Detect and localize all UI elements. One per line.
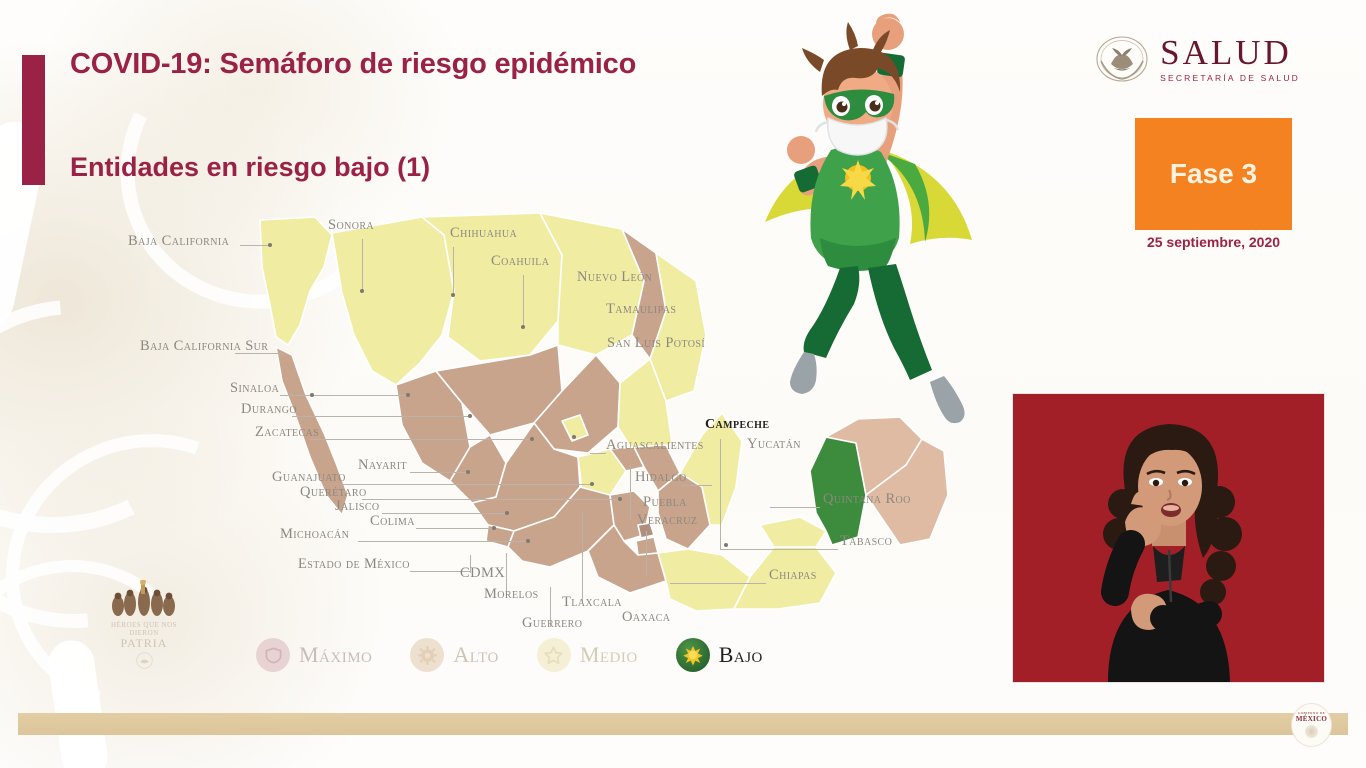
- page-title: COVID-19: Semáforo de riesgo epidémico: [70, 48, 636, 81]
- map-label-san-luis-potosi: San Luis Potosí: [607, 335, 705, 352]
- leader-line: [720, 549, 838, 550]
- leader-line: [416, 528, 494, 529]
- map-dot: [572, 435, 576, 439]
- leader-line: [340, 484, 592, 485]
- map-label-zacatecas: Zacatecas: [255, 424, 319, 441]
- map-dot: [724, 543, 728, 547]
- map-label-oaxaca: Oaxaca: [622, 609, 670, 626]
- map-label-quintana-roo: Quintana Roo: [823, 491, 911, 508]
- salud-wordmark: SALUD: [1160, 35, 1300, 70]
- map-label-tabasco: Tabasco: [840, 533, 892, 550]
- leader-line: [523, 275, 524, 327]
- map-label-puebla: Puebla: [643, 494, 687, 511]
- map-label-chihuahua: Chihuahua: [450, 225, 517, 242]
- leader-line: [646, 531, 647, 575]
- map-dot: [451, 293, 455, 297]
- leader-line: [280, 395, 408, 396]
- state-sonora: [332, 217, 454, 385]
- legend-item-medio[interactable]: Medio: [537, 638, 638, 672]
- title-accent-bar: [22, 55, 45, 185]
- leader-line: [292, 416, 470, 417]
- leader-line: [358, 541, 528, 542]
- map-label-baja-california-sur: Baja California Sur: [140, 338, 268, 355]
- map-label-estado-de-mexico: Estado de México: [298, 556, 410, 573]
- map-dot: [310, 393, 314, 397]
- map-label-hidalgo: Hidalgo: [635, 469, 687, 486]
- map-dot: [526, 539, 530, 543]
- risk-legend: Máximo: [256, 638, 763, 672]
- leader-line: [310, 439, 532, 440]
- phase-badge: Fase 3: [1135, 118, 1292, 230]
- sunburst-icon: [676, 638, 710, 672]
- gear-icon: [410, 638, 444, 672]
- map-label-nayarit: Nayarit: [358, 457, 407, 474]
- map-dot: [406, 393, 410, 397]
- legend-label-medio: Medio: [580, 642, 638, 668]
- seal-line-2: MÉXICO: [1296, 716, 1327, 723]
- sign-language-interpreter-video[interactable]: [1012, 393, 1325, 683]
- gobierno-de-mexico-seal: GOBIERNO DE MÉXICO: [1291, 703, 1332, 747]
- phase-label: Fase 3: [1170, 158, 1257, 190]
- page-subtitle: Entidades en riesgo bajo (1): [70, 152, 430, 183]
- state-tabasco: [760, 517, 826, 547]
- map-dot: [618, 497, 622, 501]
- presentation-slide: COVID-19: Semáforo de riesgo epidémico E…: [0, 0, 1366, 768]
- state-oaxaca: [658, 549, 750, 611]
- map-label-sinaloa: Sinaloa: [230, 380, 279, 397]
- leader-line: [770, 507, 820, 508]
- map-label-coahuila: Coahuila: [491, 253, 549, 270]
- map-label-michoacan: Michoacán: [280, 526, 349, 543]
- map-label-colima: Colima: [370, 513, 415, 530]
- star-icon: [537, 638, 571, 672]
- leader-line: [410, 472, 468, 473]
- eagle-seal-small-icon: [136, 652, 153, 669]
- legend-label-bajo: Bajo: [719, 642, 763, 668]
- map-label-tamaulipas: Tamaulipas: [606, 301, 676, 318]
- leader-line: [590, 453, 606, 454]
- leader-line: [362, 499, 620, 500]
- legend-label-alto: Alto: [453, 642, 498, 668]
- slide-date: 25 septiembre, 2020: [1135, 234, 1292, 250]
- leader-line: [670, 583, 766, 584]
- map-label-tlaxcala: Tlaxcala: [562, 594, 622, 611]
- footer-bar: [18, 713, 1348, 735]
- map-label-nuevo-leon: Nuevo León: [577, 269, 652, 286]
- leader-line: [240, 245, 270, 246]
- mexican-eagle-seal-icon: [1095, 34, 1149, 84]
- map-label-durango: Durango: [241, 401, 297, 418]
- map-dot: [268, 243, 272, 247]
- state-morelos: [636, 537, 658, 555]
- heroes-logo-line2: PATRIA: [100, 637, 188, 651]
- covid-superhero-illustration: [700, 0, 1010, 465]
- heroes-que-nos-dieron-patria-logo: HÉROES QUE NOS DIERON PATRIA: [100, 580, 188, 642]
- map-label-cdmx: CDMX: [460, 565, 505, 582]
- map-label-baja-california: Baja California: [128, 233, 229, 250]
- heroes-logo-caption: HÉROES QUE NOS DIERON PATRIA: [100, 621, 188, 651]
- leader-line: [362, 239, 363, 291]
- salud-logo: SALUD SECRETARÍA DE SALUD: [1095, 34, 1300, 84]
- map-dot: [505, 511, 509, 515]
- leader-line: [453, 247, 454, 295]
- map-dot: [360, 289, 364, 293]
- map-dot: [590, 482, 594, 486]
- map-dot: [521, 325, 525, 329]
- shield-icon: [256, 638, 290, 672]
- map-label-guerrero: Guerrero: [522, 615, 582, 632]
- leader-line: [582, 511, 583, 603]
- map-dot: [530, 437, 534, 441]
- map-label-aguascalientes: Aguascalientes: [606, 437, 704, 454]
- seal-eagle-icon: [1305, 725, 1318, 738]
- map-label-veracruz: Veracruz: [637, 512, 697, 529]
- salud-subtitle: SECRETARÍA DE SALUD: [1160, 74, 1300, 83]
- map-label-morelos: Morelos: [484, 586, 539, 603]
- state-baja-california: [260, 217, 332, 345]
- leader-line: [630, 465, 631, 519]
- map-dot: [492, 526, 496, 530]
- heroes-logo-line1: HÉROES QUE NOS DIERON: [111, 621, 177, 637]
- map-label-chiapas: Chiapas: [769, 567, 817, 584]
- map-dot: [466, 470, 470, 474]
- legend-item-alto[interactable]: Alto: [410, 638, 498, 672]
- map-dot: [468, 414, 472, 418]
- map-label-sonora: Sonora: [328, 217, 374, 234]
- legend-label-maximo: Máximo: [299, 642, 372, 668]
- legend-item-bajo[interactable]: Bajo: [676, 638, 763, 672]
- legend-item-maximo[interactable]: Máximo: [256, 638, 372, 672]
